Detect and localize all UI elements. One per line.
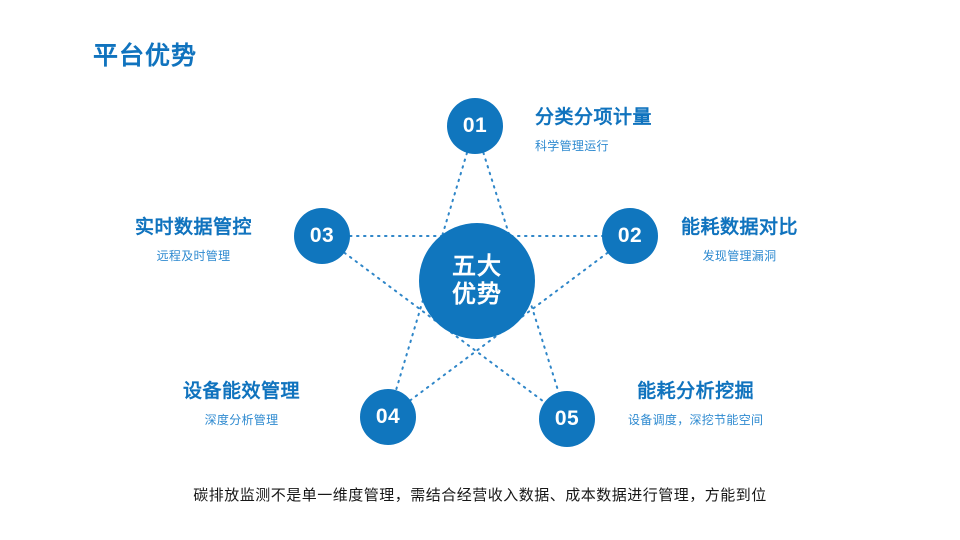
node-subtitle-01: 科学管理运行: [535, 139, 652, 154]
node-title-02: 能耗数据对比: [681, 216, 798, 240]
slide-canvas: 平台优势 五大 优势 01 02 03 04: [0, 0, 960, 540]
node-number-05: 05: [555, 407, 579, 431]
node-number-04: 04: [376, 405, 400, 429]
center-hub-line2: 优势: [452, 281, 502, 309]
node-number-03: 03: [310, 224, 334, 248]
node-circle-03[interactable]: 03: [294, 208, 350, 264]
node-number-02: 02: [618, 224, 642, 248]
node-label-01: 分类分项计量 科学管理运行: [535, 106, 652, 154]
node-subtitle-04: 深度分析管理: [183, 413, 300, 428]
node-circle-05[interactable]: 05: [539, 391, 595, 447]
node-label-04: 设备能效管理 深度分析管理: [183, 380, 300, 428]
center-hub: 五大 优势: [419, 223, 535, 339]
node-title-05: 能耗分析挖掘: [628, 380, 763, 404]
node-circle-04[interactable]: 04: [360, 389, 416, 445]
node-label-02: 能耗数据对比 发现管理漏洞: [681, 216, 798, 264]
node-subtitle-05: 设备调度，深挖节能空间: [628, 413, 763, 428]
node-number-01: 01: [463, 114, 487, 138]
node-title-01: 分类分项计量: [535, 106, 652, 130]
node-label-05: 能耗分析挖掘 设备调度，深挖节能空间: [628, 380, 763, 428]
node-title-04: 设备能效管理: [183, 380, 300, 404]
footer-caption: 碳排放监测不是单一维度管理，需结合经营收入数据、成本数据进行管理，方能到位: [0, 484, 960, 505]
node-circle-01[interactable]: 01: [447, 98, 503, 154]
node-subtitle-03: 远程及时管理: [135, 249, 252, 264]
node-circle-02[interactable]: 02: [602, 208, 658, 264]
node-title-03: 实时数据管控: [135, 216, 252, 240]
node-label-03: 实时数据管控 远程及时管理: [135, 216, 252, 264]
center-hub-line1: 五大: [452, 253, 502, 281]
node-subtitle-02: 发现管理漏洞: [681, 249, 798, 264]
five-advantages-diagram: 五大 优势 01 02 03 04 05 分类分项计量 科学管理运行 能耗数据对…: [0, 0, 960, 540]
